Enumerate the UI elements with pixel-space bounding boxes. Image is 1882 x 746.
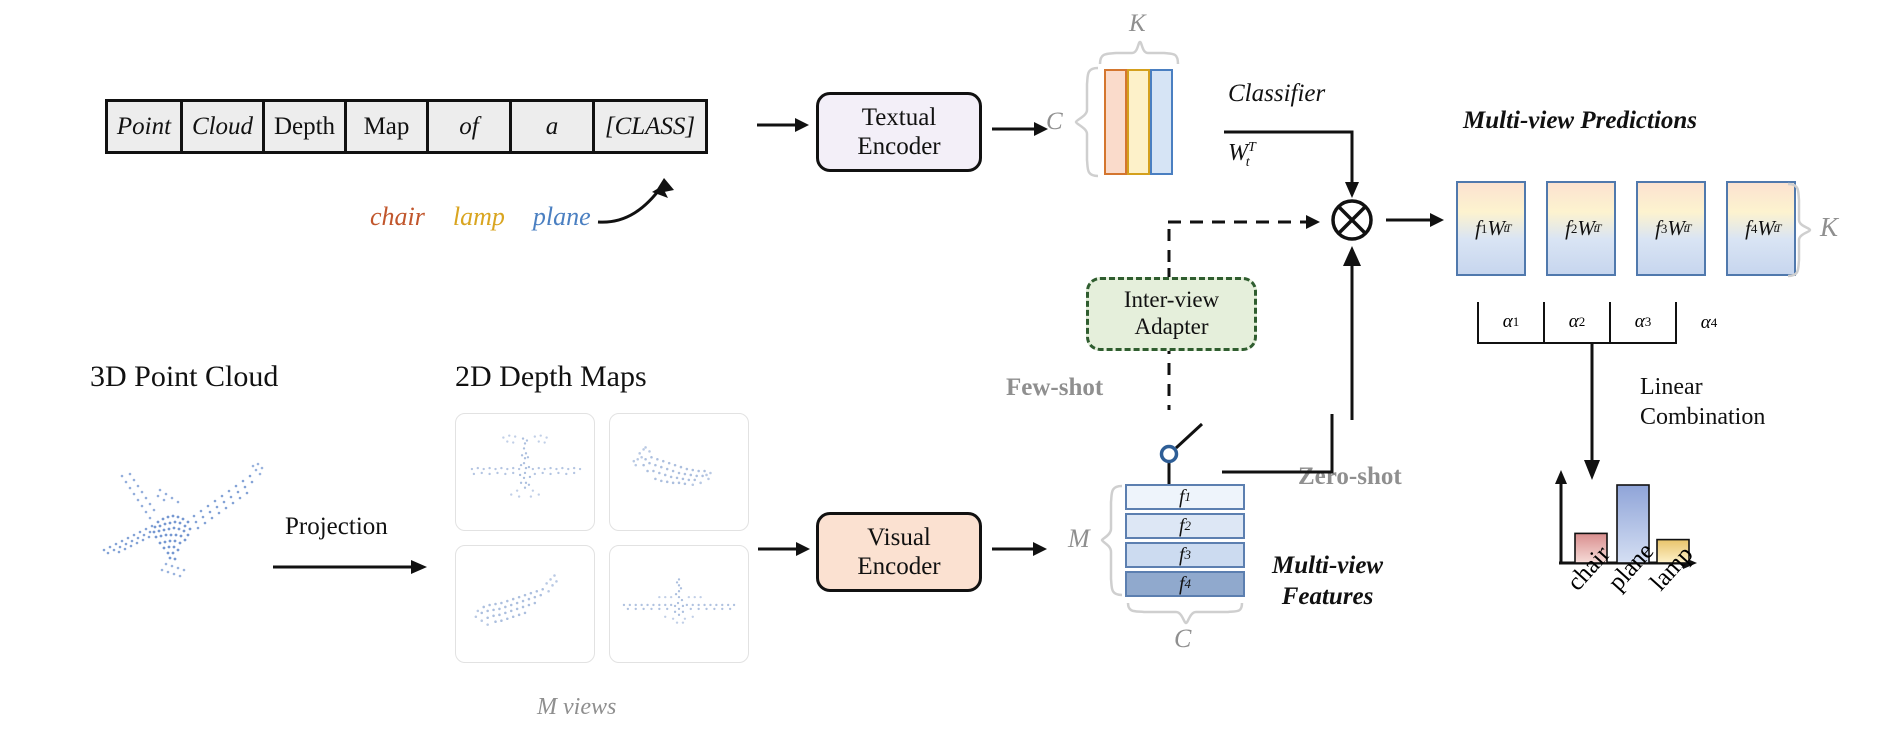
depth-map-thumb-4[interactable] (609, 545, 749, 663)
prompt-token-a: a (512, 102, 595, 151)
classifier-caption: Classifier (1228, 80, 1325, 108)
classifier-column-chair (1104, 69, 1127, 175)
feature-row-1: f1 (1125, 484, 1245, 510)
classifier-column-plane (1150, 69, 1173, 175)
alpha-cell-1: α1 (1477, 302, 1543, 344)
alpha-cell-3: α3 (1609, 302, 1675, 344)
linear-combination-label: Linear Combination (1640, 372, 1765, 432)
classifier-column-lamp (1127, 69, 1150, 175)
inter-view-adapter-box[interactable]: Inter-view Adapter (1086, 277, 1257, 351)
arrow-depthmaps-to-visual-encoder (758, 537, 813, 561)
visual-encoder-line2: Encoder (857, 552, 940, 581)
brace-k-top (1098, 40, 1180, 66)
adapter-line1: Inter-view (1124, 287, 1219, 314)
arrow-linear-combination (1578, 344, 1608, 484)
class-word-list: chair lamp plane (370, 202, 591, 232)
features-dim-m-label: M (1068, 524, 1090, 554)
multi-view-predictions-title: Multi-view Predictions (1463, 107, 1697, 135)
class-curved-arrow (592, 168, 702, 228)
textual-encoder-box[interactable]: Textual Encoder (816, 92, 982, 172)
arrow-classifier-to-operator (1224, 126, 1374, 206)
predictions-dim-k-label: K (1820, 212, 1838, 243)
prompt-token-map: Map (347, 102, 429, 151)
depth-map-thumb-3[interactable] (455, 545, 595, 663)
prompt-token-cloud: Cloud (183, 102, 265, 151)
multi-view-features-caption: Multi-view Features (1272, 550, 1383, 613)
arrow-features-to-operator (1326, 244, 1376, 420)
dashed-line-adapter-bottom (1160, 342, 1178, 412)
brace-c-bottom (1126, 601, 1246, 625)
few-shot-label: Few-shot (1006, 374, 1103, 402)
tensor-product-icon (1328, 196, 1376, 244)
brace-m-left (1100, 484, 1124, 597)
class-word-chair: chair (370, 202, 425, 232)
point-cloud-visual (70, 440, 300, 600)
depth-map-thumb-1[interactable] (455, 413, 595, 531)
visual-encoder-box[interactable]: Visual Encoder (816, 512, 982, 592)
prediction-box-3: f3WTt (1636, 181, 1706, 276)
arrow-operator-to-predictions (1386, 208, 1448, 232)
alpha-weight-row: α1 α2 α3 α4 (1477, 302, 1741, 344)
depth-map-thumb-2[interactable] (609, 413, 749, 531)
arrow-visual-encoder-to-features (992, 537, 1050, 561)
class-word-plane: plane (533, 202, 591, 232)
prompt-token-point: Point (108, 102, 183, 151)
projection-label: Projection (285, 513, 388, 541)
depth-maps-title: 2D Depth Maps (455, 360, 647, 394)
arrow-textual-encoder-to-matrix (992, 117, 1052, 141)
alpha-cell-4: α4 (1675, 302, 1741, 344)
textual-encoder-line2: Encoder (857, 132, 940, 161)
prompt-token-class: [CLASS] (595, 102, 705, 151)
brace-k-right (1786, 182, 1812, 278)
prediction-box-1: f1WTt (1456, 181, 1526, 276)
classifier-dim-k-label: K (1129, 10, 1146, 38)
class-word-lamp: lamp (453, 202, 505, 232)
arrow-projection (273, 555, 433, 579)
alpha-cell-2: α2 (1543, 302, 1609, 344)
feature-row-2: f2 (1125, 513, 1245, 539)
visual-encoder-line1: Visual (867, 523, 931, 552)
brace-c-left (1074, 66, 1100, 178)
feature-row-4: f4 (1125, 571, 1245, 597)
prediction-box-2: f2WTt (1546, 181, 1616, 276)
features-dim-c-label: C (1174, 624, 1191, 654)
point-cloud-title: 3D Point Cloud (90, 360, 278, 394)
prompt-token-row: Point Cloud Depth Map of a [CLASS] (105, 99, 708, 154)
dashed-arrow-adapter-to-operator (1168, 210, 1330, 234)
diagram-canvas: Point Cloud Depth Map of a [CLASS] chair… (0, 0, 1882, 746)
adapter-line2: Adapter (1134, 314, 1208, 341)
prompt-token-depth: Depth (265, 102, 347, 151)
textual-encoder-line1: Textual (862, 103, 937, 132)
m-views-caption: M views (537, 694, 616, 721)
classifier-weight-matrix (1104, 69, 1173, 175)
depth-map-grid (455, 413, 749, 663)
feature-row-3: f3 (1125, 542, 1245, 568)
classifier-dim-c-label: C (1046, 108, 1063, 136)
multi-view-feature-stack: f1 f2 f3 f4 (1125, 484, 1245, 597)
arrow-tokens-to-textual-encoder (757, 113, 812, 137)
dashed-line-adapter-up (1160, 222, 1178, 262)
multi-view-prediction-boxes: f1WTt f2WTt f3WTt f4WTt (1456, 181, 1796, 276)
prompt-token-of: of (429, 102, 512, 151)
